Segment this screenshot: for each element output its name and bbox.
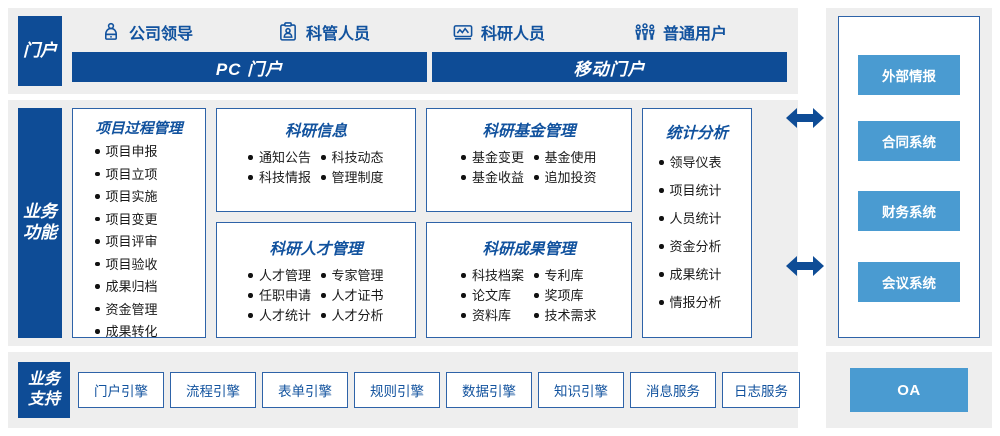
support-chip-process-engine[interactable]: 流程引擎 bbox=[170, 372, 256, 408]
card-project-process-management[interactable]: 项目过程管理 项目申报 项目立项 项目实施 项目变更 项目评审 项目验收 成果归… bbox=[72, 108, 206, 338]
bidirectional-arrow-bottom bbox=[786, 253, 824, 279]
support-chip-message-service[interactable]: 消息服务 bbox=[630, 372, 716, 408]
card-title: 科研人才管理 bbox=[217, 237, 415, 259]
business-support-label-line2: 支持 bbox=[28, 390, 60, 410]
role-researcher[interactable]: 科研人员 bbox=[452, 16, 545, 48]
card-item-list: 项目申报 项目立项 项目实施 项目变更 项目评审 项目验收 成果归档 资金管理 … bbox=[73, 145, 205, 338]
leader-bust-icon bbox=[100, 21, 122, 43]
list-item[interactable]: 资金分析 bbox=[659, 240, 751, 253]
support-chip-rule-engine[interactable]: 规则引擎 bbox=[354, 372, 440, 408]
list-item[interactable]: 科技动态 bbox=[321, 151, 384, 164]
card-title: 项目过程管理 bbox=[73, 117, 205, 138]
external-system-contract[interactable]: 合同系统 bbox=[858, 121, 960, 161]
card-item-list-left: 基金变更 基金收益 bbox=[461, 151, 524, 191]
list-item[interactable]: 基金变更 bbox=[461, 151, 524, 164]
list-item[interactable]: 资料库 bbox=[461, 309, 524, 322]
list-item[interactable]: 专利库 bbox=[534, 269, 597, 282]
portal-section-label: 门户 bbox=[18, 16, 62, 86]
list-item[interactable]: 管理制度 bbox=[321, 171, 384, 184]
list-item[interactable]: 项目申报 bbox=[95, 145, 205, 158]
card-statistical-analysis[interactable]: 统计分析 领导仪表 项目统计 人员统计 资金分析 成果统计 情报分析 bbox=[642, 108, 752, 338]
card-research-talent-management[interactable]: 科研人才管理 人才管理 任职申请 人才统计 专家管理 人才证书 人才分析 bbox=[216, 222, 416, 338]
list-item[interactable]: 通知公告 bbox=[248, 151, 311, 164]
card-item-list-right: 专家管理 人才证书 人才分析 bbox=[321, 269, 384, 329]
list-item[interactable]: 领导仪表 bbox=[659, 156, 751, 169]
card-research-achievement-management[interactable]: 科研成果管理 科技档案 论文库 资料库 专利库 奖项库 技术需求 bbox=[426, 222, 632, 338]
external-system-meeting[interactable]: 会议系统 bbox=[858, 262, 960, 302]
card-item-columns: 通知公告 科技情报 科技动态 管理制度 bbox=[217, 151, 415, 191]
external-system-intelligence[interactable]: 外部情报 bbox=[858, 55, 960, 95]
card-item-list-left: 科技档案 论文库 资料库 bbox=[461, 269, 524, 329]
external-system-oa[interactable]: OA bbox=[850, 368, 968, 412]
list-item[interactable]: 项目立项 bbox=[95, 168, 205, 181]
card-research-fund-management[interactable]: 科研基金管理 基金变更 基金收益 基金使用 追加投资 bbox=[426, 108, 632, 212]
list-item[interactable]: 人才管理 bbox=[248, 269, 311, 282]
list-item[interactable]: 项目验收 bbox=[95, 258, 205, 271]
external-system-finance[interactable]: 财务系统 bbox=[858, 191, 960, 231]
support-chip-knowledge-engine[interactable]: 知识引擎 bbox=[538, 372, 624, 408]
list-item[interactable]: 人才分析 bbox=[321, 309, 384, 322]
business-support-label: 业务 支持 bbox=[18, 362, 70, 418]
list-item[interactable]: 情报分析 bbox=[659, 296, 751, 309]
role-research-admin[interactable]: 科管人员 bbox=[277, 16, 370, 48]
list-item[interactable]: 奖项库 bbox=[534, 289, 597, 302]
monitor-chart-icon bbox=[452, 21, 474, 43]
list-item[interactable]: 科技情报 bbox=[248, 171, 311, 184]
list-item[interactable]: 追加投资 bbox=[534, 171, 597, 184]
support-chip-form-engine[interactable]: 表单引擎 bbox=[262, 372, 348, 408]
card-title: 科研基金管理 bbox=[427, 119, 631, 141]
id-badge-icon bbox=[277, 21, 299, 43]
list-item[interactable]: 任职申请 bbox=[248, 289, 311, 302]
support-chip-log-service[interactable]: 日志服务 bbox=[722, 372, 800, 408]
card-item-list: 领导仪表 项目统计 人员统计 资金分析 成果统计 情报分析 bbox=[643, 156, 751, 309]
card-item-columns: 科技档案 论文库 资料库 专利库 奖项库 技术需求 bbox=[427, 269, 631, 329]
list-item[interactable]: 项目变更 bbox=[95, 213, 205, 226]
portal-bar-pc[interactable]: PC 门户 bbox=[72, 52, 427, 82]
list-item[interactable]: 成果归档 bbox=[95, 280, 205, 293]
card-research-information[interactable]: 科研信息 通知公告 科技情报 科技动态 管理制度 bbox=[216, 108, 416, 212]
card-item-columns: 人才管理 任职申请 人才统计 专家管理 人才证书 人才分析 bbox=[217, 269, 415, 329]
bidirectional-arrow-top bbox=[786, 105, 824, 131]
business-support-label-line1: 业务 bbox=[28, 370, 60, 390]
list-item[interactable]: 基金收益 bbox=[461, 171, 524, 184]
role-label: 普通用户 bbox=[663, 20, 727, 44]
role-general-user[interactable]: 普通用户 bbox=[634, 16, 727, 48]
card-item-list-right: 专利库 奖项库 技术需求 bbox=[534, 269, 597, 329]
list-item[interactable]: 项目统计 bbox=[659, 184, 751, 197]
support-chip-portal-engine[interactable]: 门户引擎 bbox=[78, 372, 164, 408]
list-item[interactable]: 论文库 bbox=[461, 289, 524, 302]
people-group-icon bbox=[634, 21, 656, 43]
role-label: 科管人员 bbox=[306, 20, 370, 44]
business-functions-label: 业务功能 bbox=[18, 108, 62, 338]
card-title: 科研信息 bbox=[217, 119, 415, 141]
list-item[interactable]: 项目评审 bbox=[95, 235, 205, 248]
list-item[interactable]: 资金管理 bbox=[95, 303, 205, 316]
role-label: 公司领导 bbox=[129, 20, 193, 44]
list-item[interactable]: 专家管理 bbox=[321, 269, 384, 282]
list-item[interactable]: 人员统计 bbox=[659, 212, 751, 225]
list-item[interactable]: 人才统计 bbox=[248, 309, 311, 322]
support-chip-data-engine[interactable]: 数据引擎 bbox=[446, 372, 532, 408]
role-label: 科研人员 bbox=[481, 20, 545, 44]
card-title: 统计分析 bbox=[643, 121, 751, 143]
portal-bar-mobile[interactable]: 移动门户 bbox=[432, 52, 787, 82]
list-item[interactable]: 基金使用 bbox=[534, 151, 597, 164]
card-item-list-left: 人才管理 任职申请 人才统计 bbox=[248, 269, 311, 329]
list-item[interactable]: 成果转化 bbox=[95, 325, 205, 338]
list-item[interactable]: 人才证书 bbox=[321, 289, 384, 302]
list-item[interactable]: 科技档案 bbox=[461, 269, 524, 282]
card-item-list-right: 基金使用 追加投资 bbox=[534, 151, 597, 191]
portal-role-row: 公司领导 科管人员 科研人员 bbox=[72, 16, 786, 48]
list-item[interactable]: 项目实施 bbox=[95, 190, 205, 203]
architecture-diagram: 门户 公司领导 科管人员 bbox=[0, 0, 1000, 436]
card-item-list-left: 通知公告 科技情报 bbox=[248, 151, 311, 191]
role-company-leader[interactable]: 公司领导 bbox=[100, 16, 193, 48]
card-item-list-right: 科技动态 管理制度 bbox=[321, 151, 384, 191]
list-item[interactable]: 技术需求 bbox=[534, 309, 597, 322]
card-title: 科研成果管理 bbox=[427, 237, 631, 259]
list-item[interactable]: 成果统计 bbox=[659, 268, 751, 281]
card-item-columns: 基金变更 基金收益 基金使用 追加投资 bbox=[427, 151, 631, 191]
